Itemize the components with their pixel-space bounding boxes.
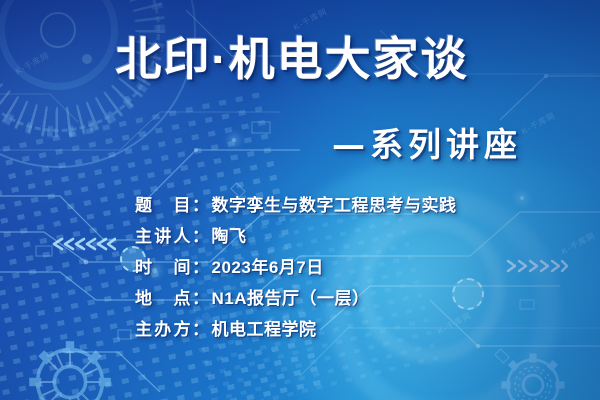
list-item: 主办方 ： 机电工程学院 <box>135 315 457 346</box>
detail-colon: ： <box>192 315 210 340</box>
list-item: 时间 ： 2023年6月7日 <box>135 253 457 284</box>
list-item: 题目 ： 数字孪生与数字工程思考与实践 <box>135 191 457 222</box>
poster-subtitle: —系列讲座 <box>332 118 522 166</box>
detail-label-organizer: 主办方 <box>135 315 191 340</box>
detail-label-time: 时间 <box>135 253 191 278</box>
detail-label-location: 地点 <box>135 284 191 309</box>
detail-value-time: 2023年6月7日 <box>212 253 324 278</box>
detail-colon: ： <box>192 253 210 278</box>
poster-content: 北印·机电大家谈 —系列讲座 题目 ： 数字孪生与数字工程思考与实践 主讲人 ：… <box>0 0 600 400</box>
detail-value-organizer: 机电工程学院 <box>212 315 317 340</box>
detail-value-speaker: 陶飞 <box>212 222 247 247</box>
detail-colon: ： <box>192 222 210 247</box>
page-title: 北印·机电大家谈 <box>0 36 600 82</box>
detail-label-speaker: 主讲人 <box>135 222 191 247</box>
lecture-details-list: 题目 ： 数字孪生与数字工程思考与实践 主讲人 ： 陶飞 时间 ： 2023年6… <box>135 191 457 346</box>
detail-label-topic: 题目 <box>135 191 191 216</box>
list-item: 地点 ： N1A报告厅（一层） <box>135 284 457 315</box>
detail-value-topic: 数字孪生与数字工程思考与实践 <box>212 191 457 216</box>
list-item: 主讲人 ： 陶飞 <box>135 222 457 253</box>
detail-colon: ： <box>192 191 210 216</box>
lecture-poster: K-千库网 K-千库网 K-千库网 K-千库网 K-千库网 K-千库网 北印·机… <box>0 0 600 400</box>
detail-value-location: N1A报告厅（一层） <box>212 284 370 309</box>
detail-colon: ： <box>192 284 210 309</box>
